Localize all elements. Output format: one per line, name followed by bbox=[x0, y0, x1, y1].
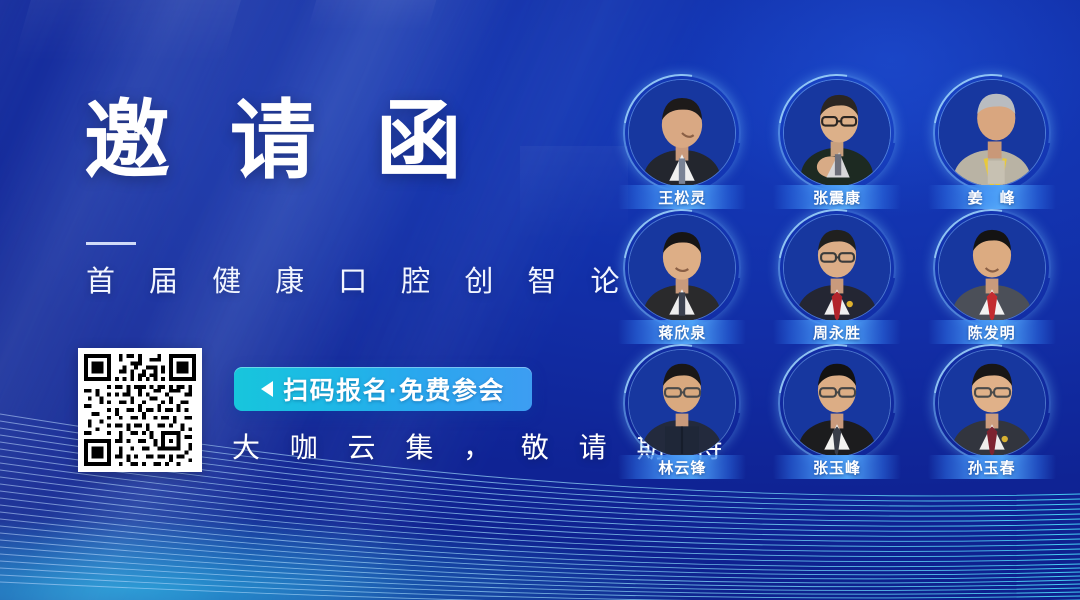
speaker-name: 林云锋 bbox=[658, 457, 706, 478]
avatar-portrait-icon bbox=[784, 350, 890, 456]
portrait-ring bbox=[629, 80, 735, 186]
speaker-name: 王松灵 bbox=[658, 187, 706, 208]
avatar-portrait-icon bbox=[939, 350, 1045, 456]
speaker-nameplate: 孙玉春 bbox=[928, 455, 1056, 479]
speaker-nameplate: 王松灵 bbox=[618, 185, 746, 209]
event-subtitle: 首 届 健 康 口 腔 创 智 论 坛 bbox=[86, 268, 696, 297]
speaker-nameplate: 姜 峰 bbox=[928, 185, 1056, 209]
speaker-card[interactable]: 周永胜 bbox=[767, 215, 907, 350]
avatar-portrait-icon bbox=[629, 80, 735, 186]
title-divider bbox=[86, 242, 136, 245]
portrait-ring bbox=[939, 80, 1045, 186]
speaker-card[interactable]: 张玉峰 bbox=[767, 350, 907, 485]
avatar-portrait-icon bbox=[629, 215, 735, 321]
avatar-portrait-icon bbox=[939, 215, 1045, 321]
speaker-name: 蒋欣泉 bbox=[658, 322, 706, 343]
speaker-nameplate: 蒋欣泉 bbox=[618, 320, 746, 344]
portrait-ring bbox=[784, 215, 890, 321]
speaker-card[interactable]: 陈发明 bbox=[922, 215, 1062, 350]
speaker-name: 张震康 bbox=[813, 187, 861, 208]
speaker-card[interactable]: 王松灵 bbox=[612, 80, 752, 215]
portrait-ring bbox=[629, 215, 735, 321]
speaker-nameplate: 林云锋 bbox=[618, 455, 746, 479]
speaker-card[interactable]: 姜 峰 bbox=[922, 80, 1062, 215]
portrait-ring bbox=[939, 215, 1045, 321]
avatar-portrait-icon bbox=[939, 80, 1045, 186]
speaker-card[interactable]: 孙玉春 bbox=[922, 350, 1062, 485]
avatar-portrait-icon bbox=[784, 80, 890, 186]
avatar-portrait-icon bbox=[629, 350, 735, 456]
speaker-name: 周永胜 bbox=[813, 322, 861, 343]
speaker-name: 姜 峰 bbox=[968, 187, 1016, 208]
invitation-poster: 邀 请 函 首 届 健 康 口 腔 创 智 论 坛 bbox=[0, 0, 1080, 600]
speaker-nameplate: 张玉峰 bbox=[773, 455, 901, 479]
speaker-name: 孙玉春 bbox=[968, 457, 1016, 478]
speaker-grid: 王松灵 bbox=[612, 80, 1062, 485]
triangle-left-icon bbox=[261, 381, 273, 397]
page-title: 邀 请 函 bbox=[84, 98, 480, 184]
speaker-nameplate: 陈发明 bbox=[928, 320, 1056, 344]
portrait-ring bbox=[939, 350, 1045, 456]
left-content-column: 邀 请 函 首 届 健 康 口 腔 创 智 论 坛 bbox=[0, 0, 600, 600]
avatar-portrait-icon bbox=[784, 215, 890, 321]
register-button-label: 扫码报名·免费参会 bbox=[283, 371, 505, 407]
speaker-name: 陈发明 bbox=[968, 322, 1016, 343]
speaker-nameplate: 周永胜 bbox=[773, 320, 901, 344]
qr-code[interactable] bbox=[78, 348, 202, 472]
speaker-card[interactable]: 林云锋 bbox=[612, 350, 752, 485]
speaker-name: 张玉峰 bbox=[813, 457, 861, 478]
portrait-ring bbox=[629, 350, 735, 456]
portrait-ring bbox=[784, 80, 890, 186]
speaker-nameplate: 张震康 bbox=[773, 185, 901, 209]
speaker-card[interactable]: 蒋欣泉 bbox=[612, 215, 752, 350]
portrait-ring bbox=[784, 350, 890, 456]
speaker-card[interactable]: 张震康 bbox=[767, 80, 907, 215]
register-button[interactable]: 扫码报名·免费参会 bbox=[234, 367, 532, 411]
